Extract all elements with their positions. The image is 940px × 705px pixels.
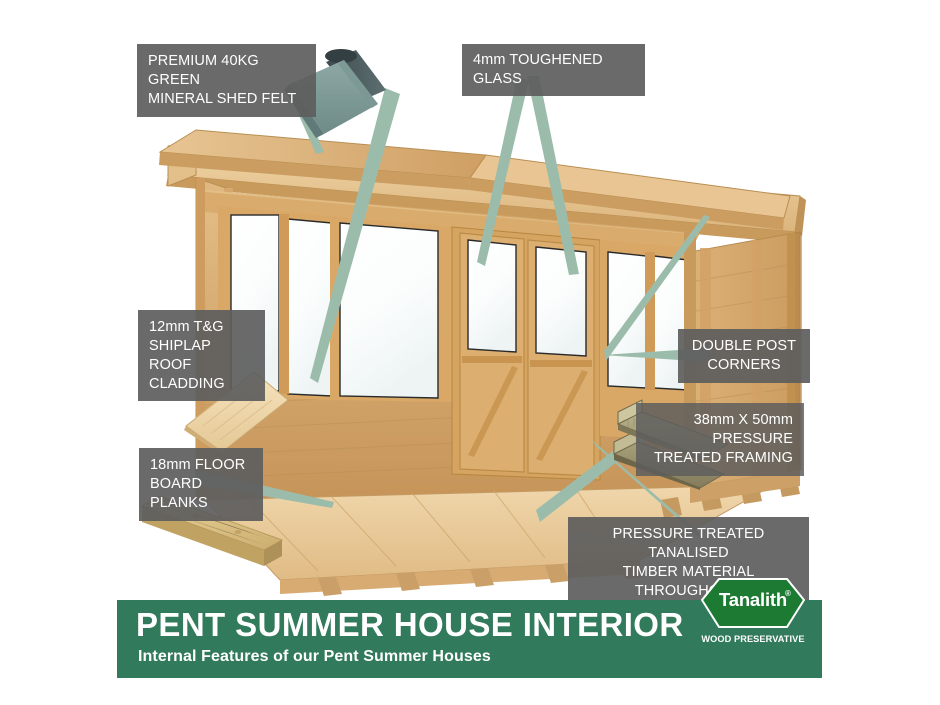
callout-treated-framing: 38mm X 50mm PRESSURE TREATED FRAMING [636, 403, 804, 476]
infographic-canvas: PREMIUM 40KG GREEN MINERAL SHED FELT 4mm… [0, 0, 940, 705]
registered-trademark-icon: ® [785, 589, 791, 598]
tanalith-badge-icon: Tanalith ® [701, 578, 805, 628]
tanalith-tagline: WOOD PRESERVATIVE [694, 634, 812, 644]
callout-shiplap-cladding: 12mm T&G SHIPLAP ROOF CLADDING [138, 310, 265, 401]
callout-double-post-corners: DOUBLE POST CORNERS [678, 329, 810, 383]
tanalith-logo: Tanalith ® WOOD PRESERVATIVE [694, 578, 812, 654]
callout-toughened-glass: 4mm TOUGHENED GLASS [462, 44, 645, 96]
callout-floor-boards: 18mm FLOOR BOARD PLANKS [139, 448, 263, 521]
page-subtitle: Internal Features of our Pent Summer Hou… [138, 648, 491, 666]
callout-shed-felt: PREMIUM 40KG GREEN MINERAL SHED FELT [137, 44, 316, 117]
page-title: PENT SUMMER HOUSE INTERIOR [136, 608, 684, 641]
